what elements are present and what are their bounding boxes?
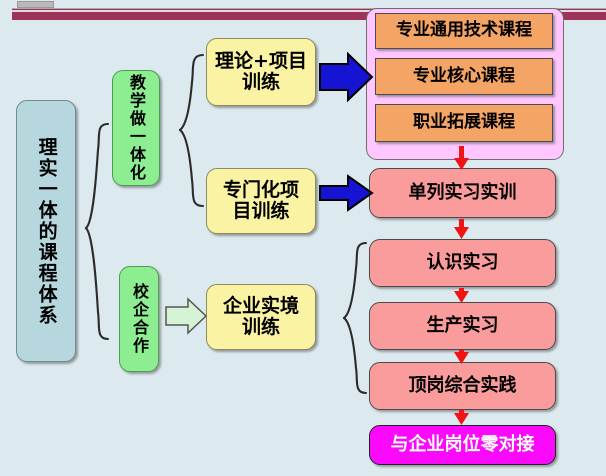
method-node-specialized-project-training[interactable]: 专门化项目训练 (206, 168, 316, 234)
course-node-general-technical[interactable]: 专业通用技术课程 (375, 13, 553, 49)
method-1-label: 理论+项目训练 (214, 51, 308, 94)
practice-2-label: 认识实习 (427, 253, 499, 273)
method-node-enterprise-real-environment-training[interactable]: 企业实境训练 (206, 284, 316, 350)
course-3-label: 职业拓展课程 (413, 113, 515, 132)
outcome-node-zero-gap-employment[interactable]: 与企业岗位零对接 (369, 425, 556, 465)
course-node-career-expansion[interactable]: 职业拓展课程 (375, 104, 553, 142)
branch-1-label: 教学做一体化 (127, 74, 145, 182)
root-node-label: 理实一体的课程体系 (35, 137, 56, 326)
course-1-label: 专业通用技术课程 (396, 21, 532, 40)
branch-2-label: 校企合作 (130, 283, 148, 355)
brace-root-to-branches (86, 124, 108, 339)
practice-3-label: 生产实习 (427, 316, 499, 336)
method-2-label: 专门化项目训练 (214, 180, 308, 223)
diagram-canvas: 理实一体的课程体系 教学做一体化 校企合作 理论+项目训练 专门化项目训练 企业… (0, 0, 606, 476)
practice-node-production-internship[interactable]: 生产实习 (369, 302, 556, 350)
arrow-green-to-enterprise-training (166, 299, 206, 333)
branch-node-teaching-integration[interactable]: 教学做一体化 (112, 70, 160, 186)
outcome-label: 与企业岗位零对接 (391, 435, 535, 455)
arrow-blue-to-course-group (320, 54, 372, 100)
practice-4-label: 顶岗综合实践 (409, 376, 517, 396)
course-2-label: 专业核心课程 (413, 67, 515, 86)
brace-practice-group (344, 243, 366, 393)
method-3-label: 企业实境训练 (214, 296, 308, 339)
branch-node-school-enterprise[interactable]: 校企合作 (119, 266, 159, 372)
arrow-blue-to-separate-internship (320, 176, 372, 210)
course-node-core[interactable]: 专业核心课程 (375, 58, 553, 95)
practice-node-separate-internship[interactable]: 单列实习实训 (369, 168, 556, 218)
top-left-gray-marker (17, 1, 54, 8)
brace-branch1-to-methods (180, 55, 203, 206)
method-node-theory-project-training[interactable]: 理论+项目训练 (206, 38, 316, 106)
root-node-course-system[interactable]: 理实一体的课程体系 (16, 100, 76, 362)
practice-1-label: 单列实习实训 (409, 183, 517, 203)
practice-node-cognitive-internship[interactable]: 认识实习 (369, 239, 556, 287)
practice-node-post-comprehensive[interactable]: 顶岗综合实践 (369, 362, 556, 410)
